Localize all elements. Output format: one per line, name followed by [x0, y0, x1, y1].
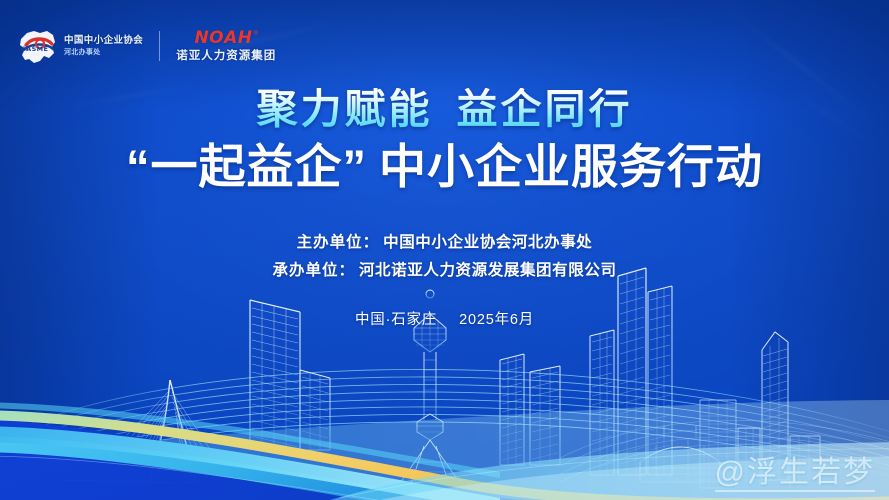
- event-date: 2025年6月: [459, 312, 534, 328]
- event-location: 中国·石家庄: [355, 312, 437, 328]
- organizer-block: 主办单位：中国中小企业协会河北办事处 承办单位：河北诺亚人力资源发展集团有限公司: [0, 235, 889, 280]
- title-line-1: 聚力赋能益企同行: [0, 88, 889, 131]
- organizer-row-host: 主办单位：中国中小企业协会河北办事处: [0, 235, 889, 251]
- poster-headline: 聚力赋能益企同行 “一起益企”中小企业服务行动: [0, 88, 889, 193]
- organizer-value-undertaker: 河北诺亚人力资源发展集团有限公司: [359, 262, 617, 279]
- title-line-2-quoted: “一起益企”: [126, 140, 367, 193]
- organizer-label-host: 主办单位：: [297, 234, 380, 251]
- sponsor-logo-bar: CASME 中国中小企业协会 河北办事处 NOAH ® 诺亚人力资源集团: [14, 22, 276, 70]
- logo-divider: [159, 31, 160, 61]
- noah-brand-en: NOAH: [194, 30, 252, 47]
- noah-brand-cn: 诺亚人力资源集团: [176, 51, 276, 63]
- noah-trademark-icon: ®: [254, 31, 258, 37]
- china-map-casme-emblem-icon: CASME: [14, 25, 60, 67]
- title-line-1-part-a: 聚力赋能: [257, 86, 433, 132]
- casme-org-branch: 河北办事处: [64, 49, 143, 56]
- organizer-value-host: 中国中小企业协会河北办事处: [383, 234, 592, 251]
- event-poster: CASME 中国中小企业协会 河北办事处 NOAH ® 诺亚人力资源集团 聚力赋…: [0, 0, 889, 500]
- casme-org-name: 中国中小企业协会: [64, 36, 143, 46]
- logo-noah: NOAH ® 诺亚人力资源集团: [176, 30, 276, 63]
- organizer-label-undertaker: 承办单位：: [272, 262, 355, 279]
- svg-text:CASME: CASME: [21, 45, 48, 53]
- title-line-2: “一起益企”中小企业服务行动: [0, 141, 889, 193]
- title-line-2-rest: 中小企业服务行动: [379, 140, 763, 193]
- event-meta: 中国·石家庄2025年6月: [0, 308, 889, 329]
- organizer-row-undertaker: 承办单位：河北诺亚人力资源发展集团有限公司: [0, 263, 889, 279]
- title-line-1-part-b: 益企同行: [457, 86, 633, 132]
- watermark: @浮生若梦: [715, 456, 875, 492]
- logo-casme: CASME 中国中小企业协会 河北办事处: [14, 25, 143, 67]
